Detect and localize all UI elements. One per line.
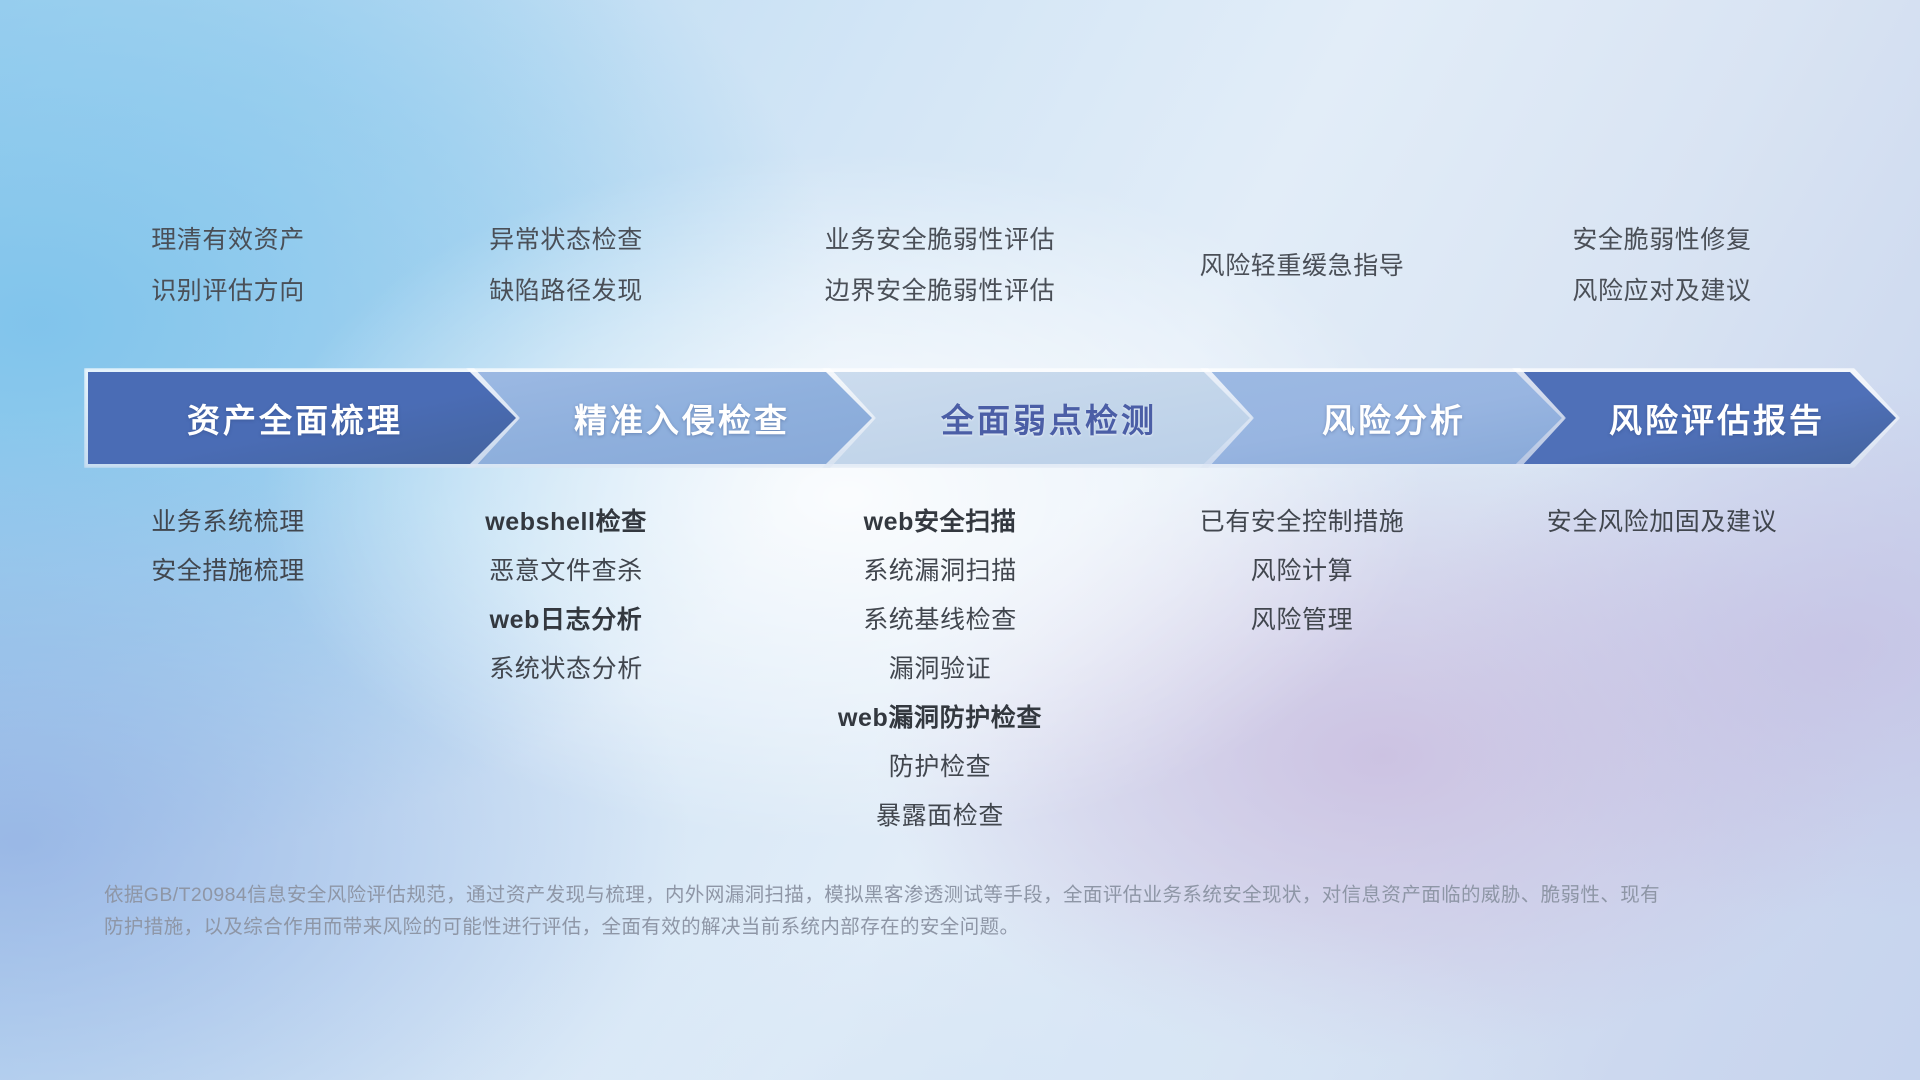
bottom-label: 漏洞验证	[889, 657, 991, 682]
top-label: 识别评估方向	[151, 279, 305, 304]
bottom-label: 暴露面检查	[876, 804, 1004, 829]
bottom-label: webshell检查	[485, 510, 647, 535]
bottom-label: 系统状态分析	[489, 657, 643, 682]
bottom-label: 安全措施梳理	[151, 559, 305, 584]
top-label: 业务安全脆弱性评估	[825, 228, 1055, 253]
process-step-label: 全面弱点检测	[941, 394, 1157, 442]
process-step-3[interactable]: 全面弱点检测	[826, 372, 1250, 464]
bottom-label: web漏洞防护检查	[838, 706, 1042, 731]
process-step-2[interactable]: 精准入侵检查	[470, 372, 872, 464]
bottom-label-group-5: 安全风险加固及建议	[1547, 510, 1777, 535]
bottom-label: 已有安全控制措施	[1200, 510, 1405, 535]
top-label: 风险应对及建议	[1572, 279, 1751, 304]
bottom-label: 业务系统梳理	[151, 510, 305, 535]
process-step-label: 资产全面梳理	[187, 394, 403, 442]
bottom-label: 系统漏洞扫描	[863, 559, 1017, 584]
bottom-label: 安全风险加固及建议	[1547, 510, 1777, 535]
slide-content: 理清有效资产识别评估方向异常状态检查缺陷路径发现业务安全脆弱性评估边界安全脆弱性…	[0, 0, 1920, 1080]
bottom-label: 防护检查	[889, 755, 991, 780]
process-step-label: 风险分析	[1322, 394, 1466, 442]
top-label: 理清有效资产	[151, 228, 305, 253]
bottom-label: web安全扫描	[864, 510, 1017, 535]
bottom-label-group-4: 已有安全控制措施风险计算风险管理	[1200, 510, 1405, 633]
process-step-5[interactable]: 风险评估报告	[1516, 372, 1896, 464]
top-label: 异常状态检查	[489, 228, 643, 253]
bottom-label: 系统基线检查	[863, 608, 1017, 633]
process-step-1[interactable]: 资产全面梳理	[88, 372, 516, 464]
bottom-label-group-1: 业务系统梳理安全措施梳理	[151, 510, 305, 584]
process-step-label: 风险评估报告	[1609, 394, 1825, 442]
bottom-label: 恶意文件查杀	[489, 559, 643, 584]
top-label: 边界安全脆弱性评估	[825, 279, 1055, 304]
top-label: 风险轻重缓急指导	[1200, 254, 1405, 279]
footer-description: 依据GB/T20984信息安全风险评估规范，通过资产发现与梳理，内外网漏洞扫描，…	[104, 880, 1664, 943]
top-label: 安全脆弱性修复	[1572, 228, 1751, 253]
bottom-label: web日志分析	[490, 608, 643, 633]
bottom-label: 风险管理	[1251, 608, 1353, 633]
bottom-label: 风险计算	[1251, 559, 1353, 584]
process-step-4[interactable]: 风险分析	[1204, 372, 1562, 464]
process-flow-banner: 资产全面梳理精准入侵检查全面弱点检测风险分析风险评估报告	[88, 372, 1850, 464]
bottom-label-group-3: web安全扫描系统漏洞扫描系统基线检查漏洞验证web漏洞防护检查防护检查暴露面检…	[838, 510, 1042, 829]
bottom-label-group-2: webshell检查恶意文件查杀web日志分析系统状态分析	[485, 510, 647, 682]
top-label: 缺陷路径发现	[489, 279, 643, 304]
process-step-label: 精准入侵检查	[574, 394, 790, 442]
